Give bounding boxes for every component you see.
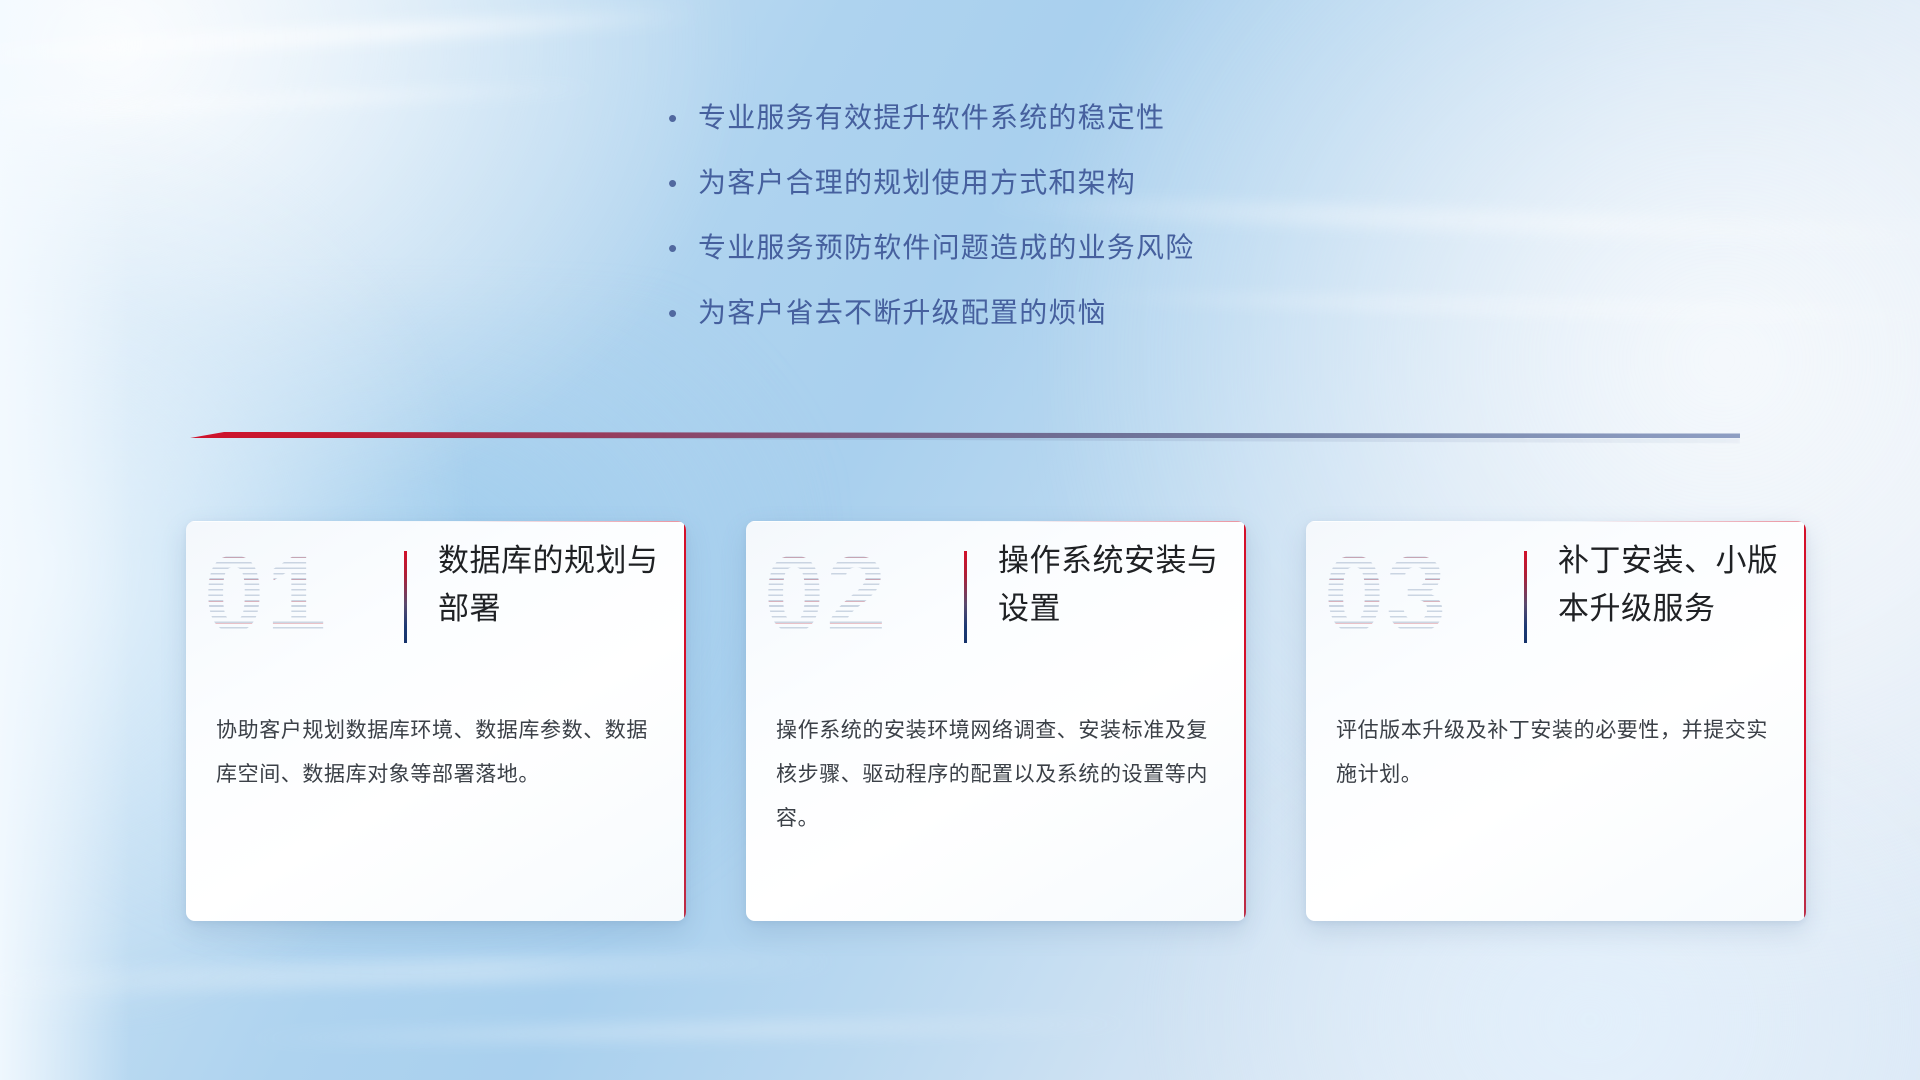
card-title-divider — [1524, 551, 1527, 643]
card-title: 数据库的规划与部署 — [438, 537, 668, 633]
card-title-divider — [964, 551, 967, 643]
service-card-list: 0101数据库的规划与部署协助客户规划数据库环境、数据库参数、数据库空间、数据库… — [186, 521, 1806, 923]
bullet-item: •专业服务预防软件问题造成的业务风险 — [668, 226, 1428, 270]
service-card[interactable]: 0303补丁安装、小版本升级服务评估版本升级及补丁安装的必要性，并提交实施计划。 — [1306, 521, 1806, 921]
card-title: 补丁安装、小版本升级服务 — [1558, 537, 1788, 633]
card-number-watermark-accent: 03 — [1324, 535, 1494, 653]
card-number-watermark-accent: 01 — [204, 535, 374, 653]
bullet-marker-icon: • — [668, 226, 698, 270]
divider-shadow — [190, 437, 1740, 444]
bullet-marker-icon: • — [668, 96, 698, 140]
section-divider — [190, 428, 1740, 444]
card-header: 0202操作系统安装与设置 — [746, 521, 1246, 673]
card-title: 操作系统安装与设置 — [998, 537, 1228, 633]
bullet-item-label: 为客户省去不断升级配置的烦恼 — [698, 291, 1107, 335]
bullet-item-label: 专业服务有效提升软件系统的稳定性 — [698, 96, 1165, 140]
service-card[interactable]: 0101数据库的规划与部署协助客户规划数据库环境、数据库参数、数据库空间、数据库… — [186, 521, 686, 921]
bullet-item-label: 专业服务预防软件问题造成的业务风险 — [698, 226, 1194, 270]
card-description: 评估版本升级及补丁安装的必要性，并提交实施计划。 — [1336, 709, 1778, 797]
card-number-watermark-accent: 02 — [764, 535, 934, 653]
bullet-item: •专业服务有效提升软件系统的稳定性 — [668, 96, 1428, 140]
service-card[interactable]: 0202操作系统安装与设置操作系统的安装环境网络调查、安装标准及复核步骤、驱动程… — [746, 521, 1246, 921]
card-description: 协助客户规划数据库环境、数据库参数、数据库空间、数据库对象等部署落地。 — [216, 709, 658, 797]
bullet-item: •为客户合理的规划使用方式和架构 — [668, 161, 1428, 205]
card-description: 操作系统的安装环境网络调查、安装标准及复核步骤、驱动程序的配置以及系统的设置等内… — [776, 709, 1218, 841]
card-title-divider — [404, 551, 407, 643]
card-header: 0303补丁安装、小版本升级服务 — [1306, 521, 1806, 673]
background-left-edge-light — [0, 0, 130, 1080]
bullet-marker-icon: • — [668, 161, 698, 205]
bullet-item: •为客户省去不断升级配置的烦恼 — [668, 291, 1428, 335]
bullet-marker-icon: • — [668, 291, 698, 335]
bullet-item-label: 为客户合理的规划使用方式和架构 — [698, 161, 1136, 205]
divider-gradient-bar — [190, 432, 1740, 438]
card-header: 0101数据库的规划与部署 — [186, 521, 686, 673]
benefits-bullet-list: •专业服务有效提升软件系统的稳定性•为客户合理的规划使用方式和架构•专业服务预防… — [668, 96, 1428, 356]
